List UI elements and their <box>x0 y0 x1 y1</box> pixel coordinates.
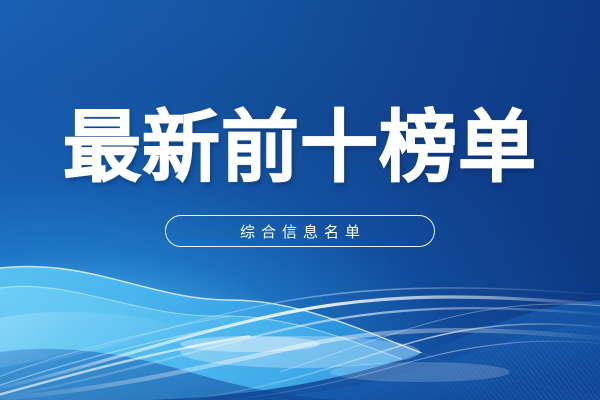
page-title: 最新前十榜单 <box>63 108 537 186</box>
subtitle-text: 综合信息名单 <box>234 221 366 242</box>
banner-poster: 最新前十榜单 综合信息名单 <box>0 0 600 400</box>
subtitle-badge: 综合信息名单 <box>165 215 435 247</box>
poster-content: 最新前十榜单 综合信息名单 <box>0 0 600 270</box>
